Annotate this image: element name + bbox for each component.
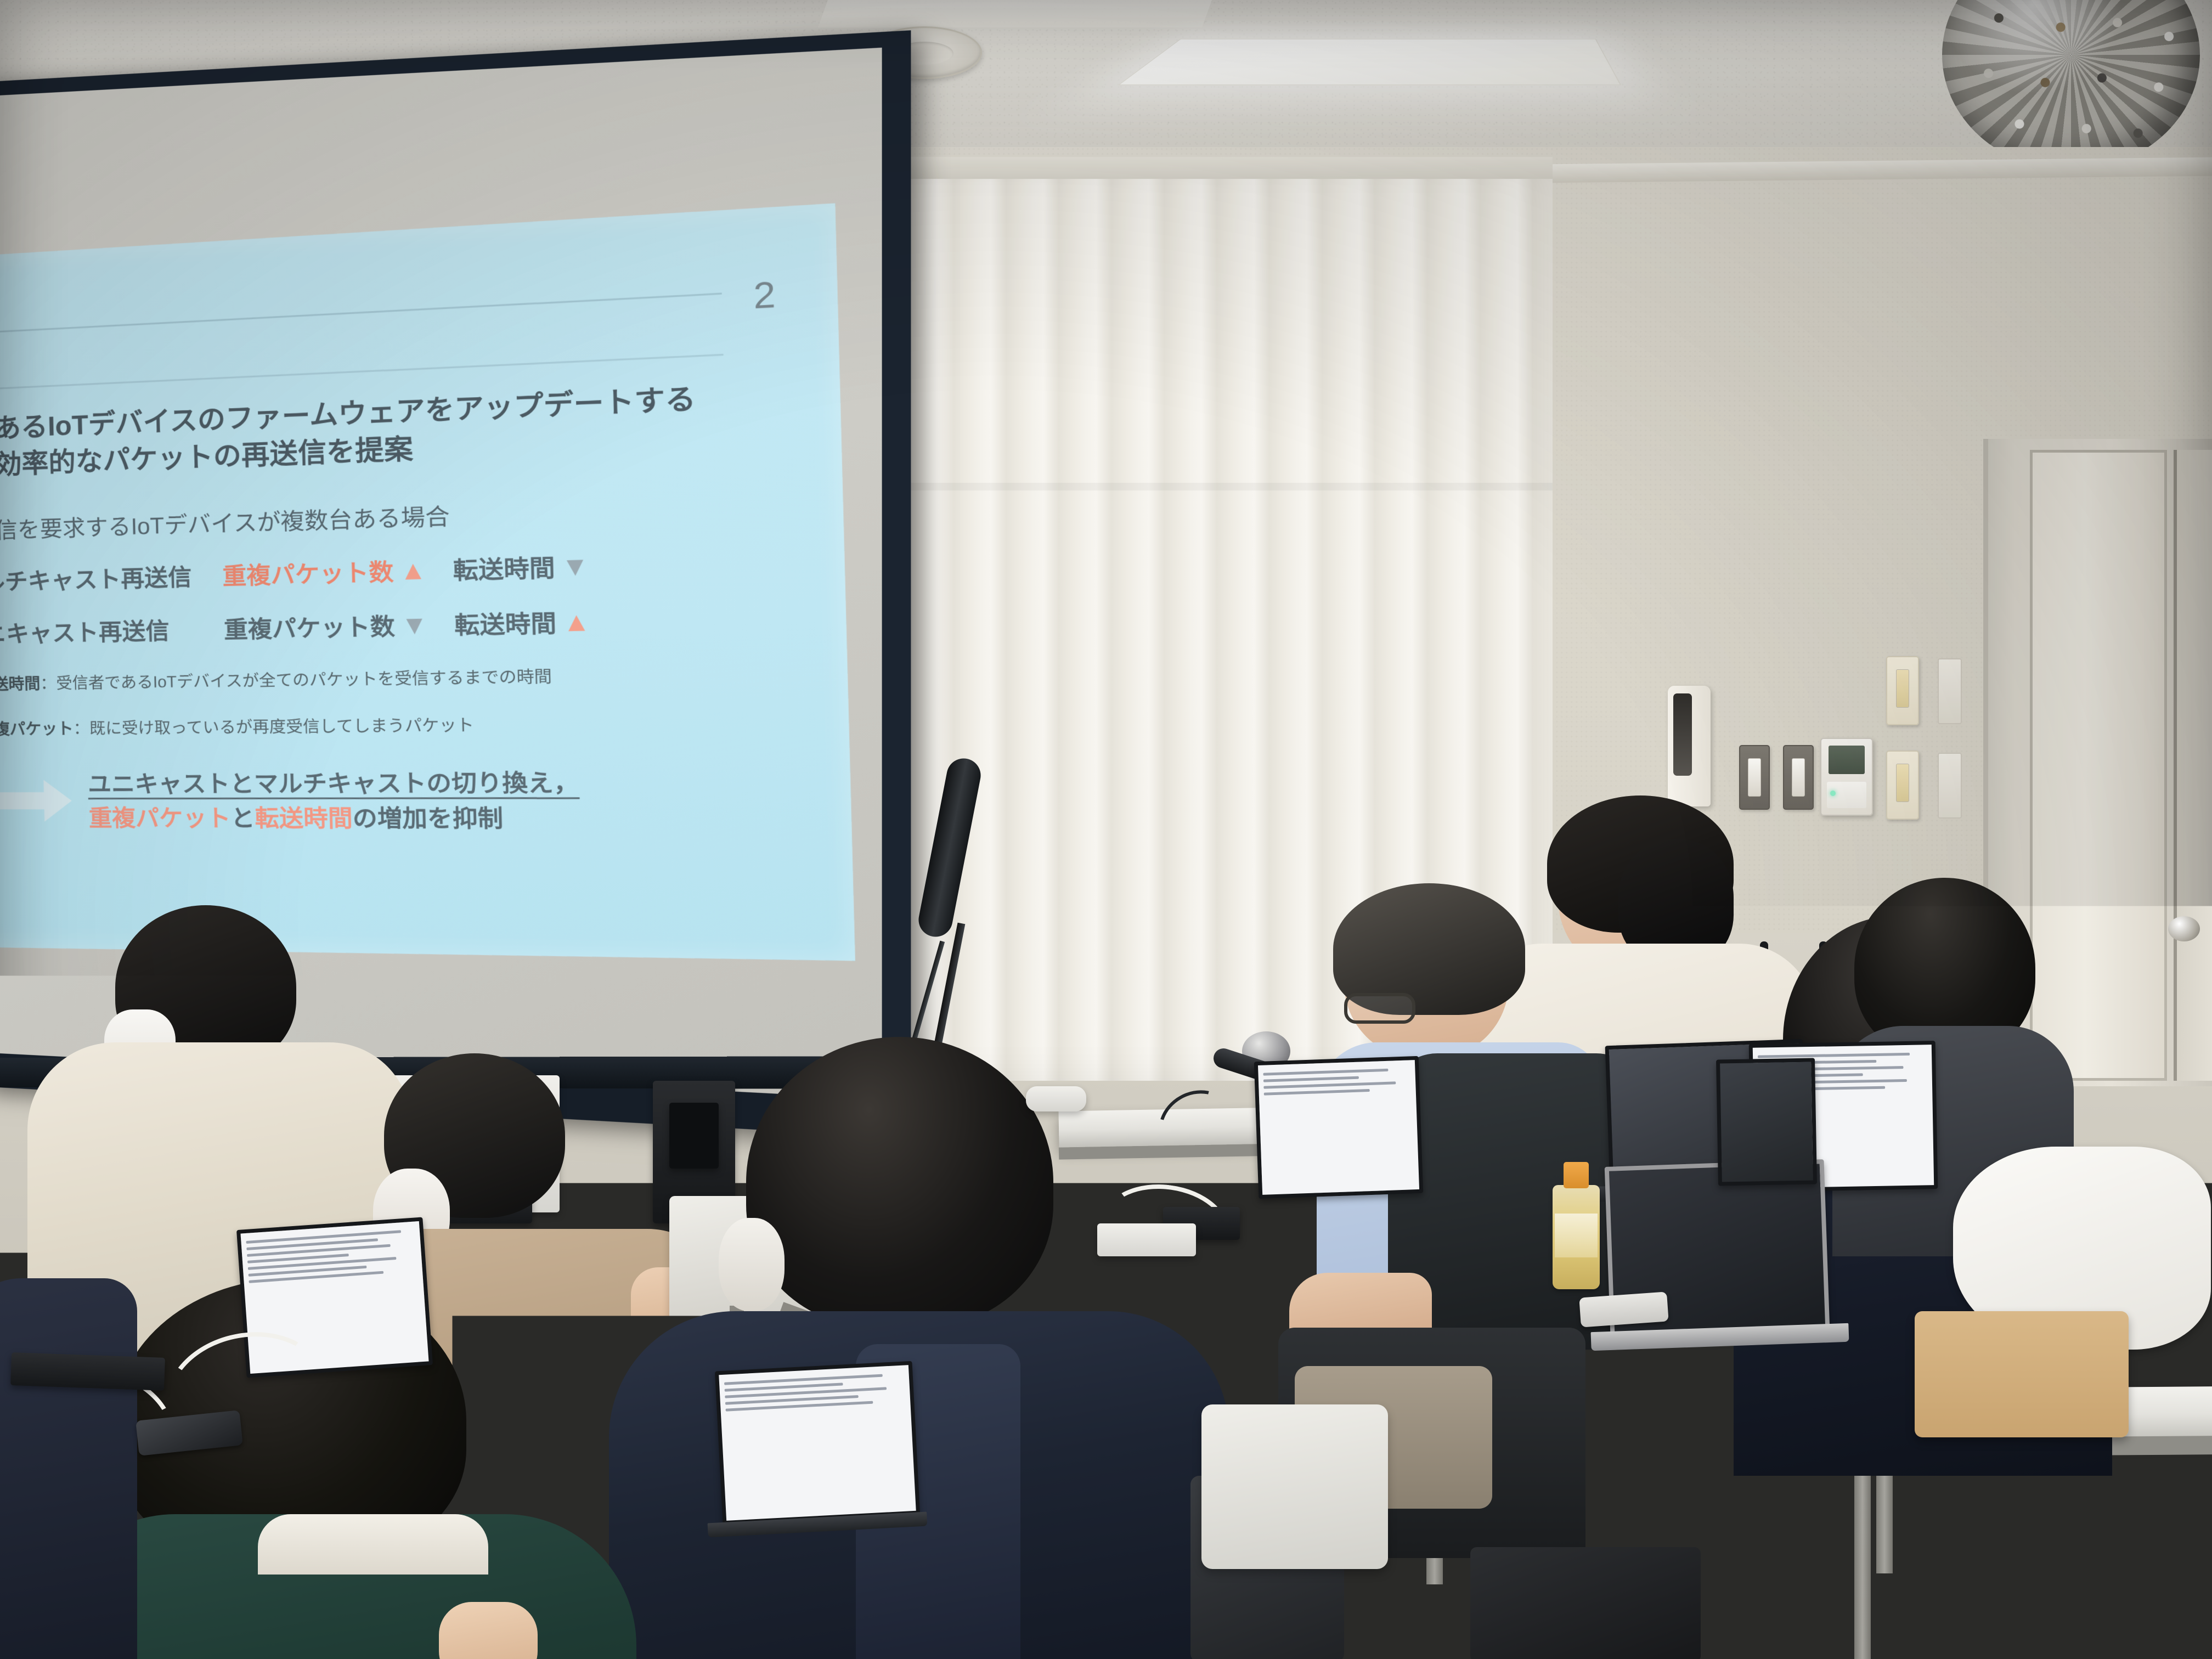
arrow-up-icon: ▲ [562, 608, 591, 635]
curtain-rail [823, 157, 1553, 179]
eyeglasses-icon [1344, 993, 1415, 1024]
slide-page-number: 2 [753, 274, 776, 317]
ac-controller[interactable] [1820, 738, 1873, 816]
right-arrow-icon [0, 777, 72, 825]
curtain-fold-band [823, 483, 1553, 490]
metric-transfer-time-unicast: 転送時間 ▲ [454, 603, 591, 641]
laptop-far-right[interactable] [1716, 1058, 1817, 1186]
slide-bullet-row: ➢再送信を要求するIoTデバイスが複数台ある場合 [0, 486, 817, 548]
door-knob[interactable] [2168, 916, 2200, 941]
conclusion-line-2: 重複パケットと転送時間の増加を抑制 [88, 802, 580, 837]
label-plate-2 [1938, 753, 1962, 819]
conclusion-emphasis-2: 転送時間 [255, 805, 353, 832]
metric-duplicate-packets-unicast: 重複パケット数 ▼ [223, 607, 428, 646]
desk-remote [1026, 1086, 1086, 1111]
conclusion-emphasis-1: 重複パケット [88, 805, 231, 831]
conference-room-photo: 究の目的 2 複数台あるIoTデバイスのファームウェアをアップデートするための効… [0, 0, 2212, 1659]
conclusion-mid: と [230, 805, 255, 831]
laptop-vest-attendee[interactable] [1254, 1056, 1424, 1199]
light-switch-4[interactable] [1886, 751, 1919, 820]
ceiling-light-panel-secondary [818, 0, 1212, 27]
metric-transfer-time-multicast: 転送時間 ▼ [453, 548, 590, 587]
label-plate-1 [1938, 658, 1962, 724]
comparison-label-multicast: マルチキャスト再送信 [0, 558, 198, 599]
slide-lead-text: 複数台あるIoTデバイスのファームウェアをアップデートするための効率的なパケット… [0, 380, 713, 487]
note-body: 受信者であるIoTデバイスが全てのパケットを受信するまでの時間 [56, 668, 552, 692]
beverage-bottle[interactable] [1553, 1185, 1600, 1289]
mirror-ball-decoration [1942, 0, 2200, 170]
slide-conclusion: ユニキャストとマルチキャストの切り換え， 重複パケットと転送時間の増加を抑制 [0, 765, 826, 838]
slide-note-duplicate-packet: ※重複パケット：既に受け取っているが再度受信してしまうパケット [0, 708, 823, 740]
ac-status-led-icon [1830, 791, 1836, 796]
comparison-row-multicast: マルチキャスト再送信 重複パケット数 ▲ 転送時間 ▼ [0, 541, 819, 598]
laptop-front-left-document [719, 1365, 916, 1521]
grey-chair[interactable] [1201, 1404, 1388, 1569]
arrow-up-icon: ▲ [399, 556, 427, 583]
back-right-desk-leg [1854, 1453, 1871, 1659]
attendee-green-hand [439, 1602, 538, 1659]
attendee-green-collar [258, 1514, 488, 1575]
ac-controller-display [1829, 746, 1865, 774]
laptop-front-left[interactable] [715, 1361, 920, 1525]
tan-chair[interactable] [1915, 1311, 2129, 1437]
note-body: 既に受け取っているが再度受信してしまうパケット [89, 716, 475, 738]
presentation-slide: 究の目的 2 複数台あるIoTデバイスのファームウェアをアップデートするための効… [0, 203, 855, 961]
light-switch-2[interactable] [1783, 745, 1814, 810]
bottle-cap [1564, 1162, 1589, 1188]
note-term: 重複パケット [0, 720, 74, 739]
metric-duplicate-packets-multicast: 重複パケット数 ▲ [222, 552, 427, 592]
comparison-row-unicast: ユニキャスト再送信 重複パケット数 ▼ 転送時間 ▲ [0, 599, 821, 650]
light-switch-1[interactable] [1739, 745, 1770, 810]
slide-bullet-text: 再送信を要求するIoTデバイスが複数台ある場合 [0, 504, 450, 545]
note-separator: ： [73, 720, 89, 738]
beverage-bottle-far-right[interactable] [2156, 1125, 2212, 1223]
bottle-label [1555, 1214, 1598, 1257]
conclusion-line-1: ユニキャストとマルチキャストの切り換え， [88, 766, 580, 802]
black-bag-under-desk [1470, 1547, 1701, 1659]
attendee-navy-suit [686, 1037, 1234, 1657]
power-strip [10, 1352, 165, 1391]
attendee-navy-hair [746, 1037, 1053, 1328]
wall-phone[interactable] [1668, 686, 1711, 806]
face-mask-icon [719, 1218, 785, 1311]
attendee-far-right-sliver [2118, 982, 2212, 1147]
light-switch-3[interactable] [1886, 656, 1919, 725]
metric-label: 重複パケット数 [223, 607, 396, 645]
slide-note-transfer-time: ※転送時間：受信者であるIoTデバイスが全てのパケットを受信するまでの時間 [0, 659, 822, 695]
slide-conclusion-text: ユニキャストとマルチキャストの切り換え， 重複パケットと転送時間の増加を抑制 [88, 766, 581, 837]
arrow-down-icon: ▼ [561, 552, 589, 580]
smartphone-right-desk[interactable] [1579, 1291, 1668, 1327]
arrow-down-icon: ▼ [400, 611, 428, 638]
metric-label: 重複パケット数 [222, 553, 394, 592]
laptop-vest-document [1258, 1060, 1419, 1195]
conclusion-tail: の増加を抑制 [352, 805, 504, 832]
metric-label: 転送時間 [454, 604, 557, 641]
metric-label: 転送時間 [453, 549, 555, 586]
note-term: 転送時間 [0, 675, 41, 694]
mirror-ball-facets [1942, 0, 2200, 170]
note-separator: ： [40, 675, 57, 693]
ceiling-light-panel [1118, 39, 1622, 86]
desk-white-adapter [1097, 1223, 1196, 1256]
comparison-label-unicast: ユニキャスト再送信 [0, 612, 199, 650]
